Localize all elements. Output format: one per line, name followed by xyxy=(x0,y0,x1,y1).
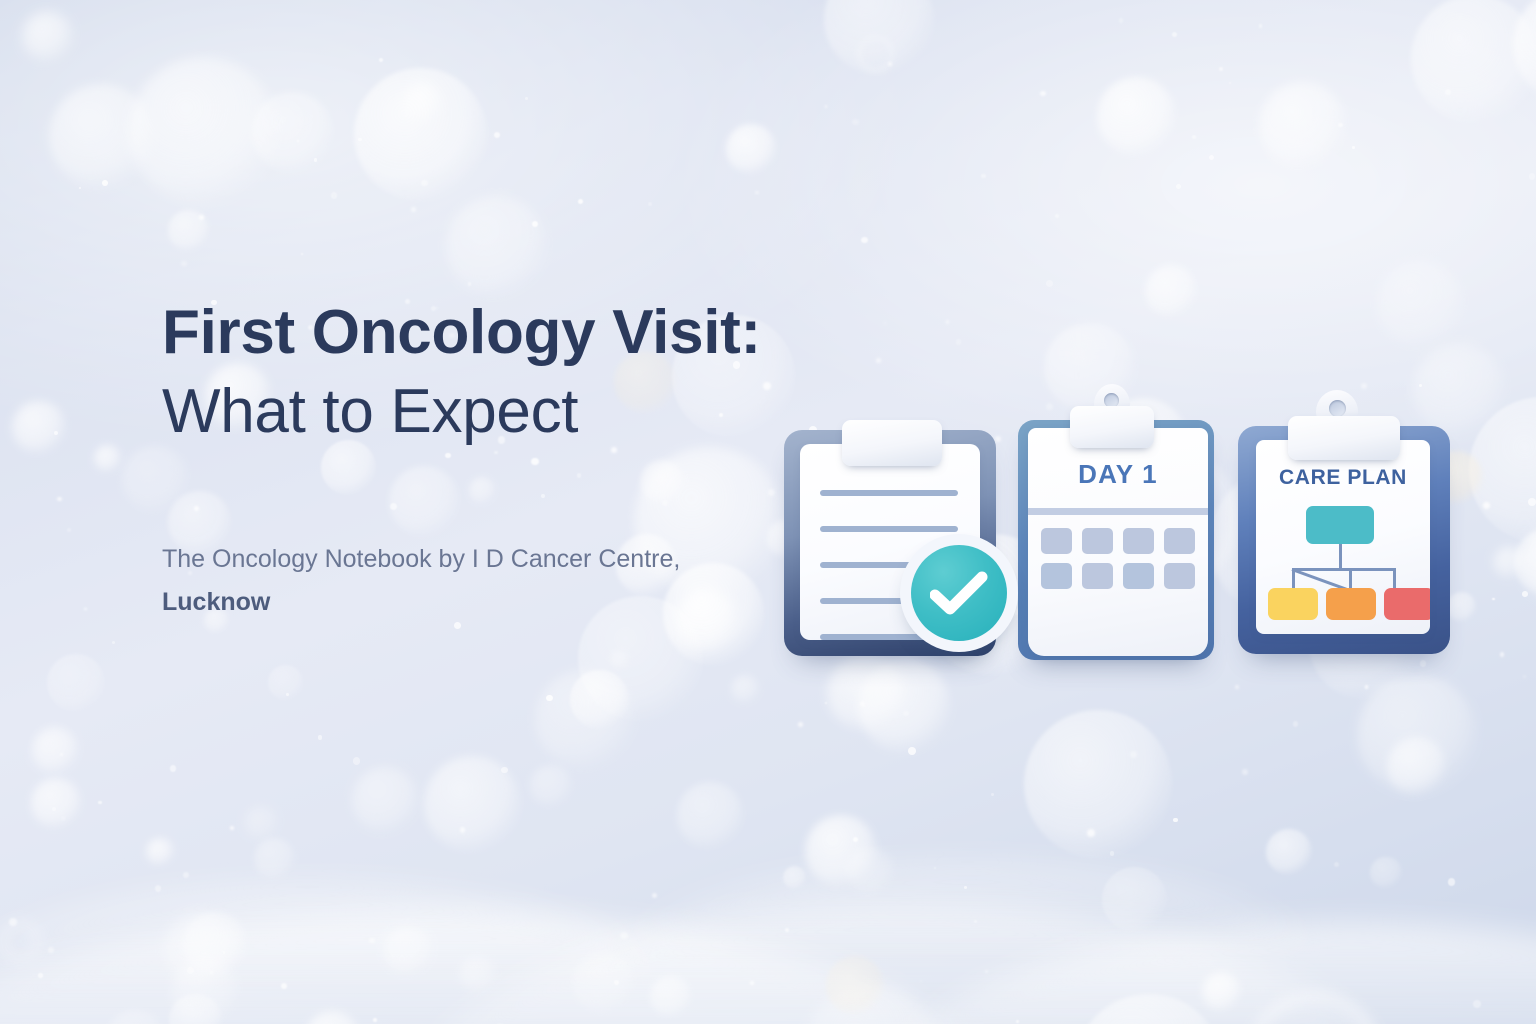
check-circle-fill xyxy=(911,545,1007,641)
subtitle-emphasis: Lucknow xyxy=(162,588,270,616)
page-title: First Oncology Visit: What to Expect xyxy=(162,300,782,446)
flow-node-child-3 xyxy=(1384,588,1430,620)
subtitle: The Oncology Notebook by I D Cancer Cent… xyxy=(162,446,737,624)
subtitle-prefix: The Oncology Notebook by I D Cancer Cent… xyxy=(162,545,680,573)
care-plan-paper: CARE PLAN xyxy=(1256,440,1430,634)
title-line-2: What to Expect xyxy=(162,379,782,446)
clip-hole xyxy=(1329,400,1346,417)
flow-node-child-1 xyxy=(1268,588,1318,620)
clipboards-illustration: DAY 1 CARE PLAN xyxy=(778,392,1468,672)
calendar-paper: DAY 1 xyxy=(1028,428,1208,656)
calendar-divider xyxy=(1028,508,1208,515)
care-plan-flowchart xyxy=(1256,506,1430,624)
clipboard-clip xyxy=(1070,406,1154,448)
title-line-1: First Oncology Visit: xyxy=(162,300,782,367)
check-circle-icon xyxy=(900,534,1018,652)
flow-node-child-2 xyxy=(1326,588,1376,620)
title-slide: First Oncology Visit: What to Expect The… xyxy=(0,0,1536,1024)
clipboard-clip xyxy=(842,420,942,466)
clipboard-clip xyxy=(1288,416,1400,460)
calendar-grid xyxy=(1041,528,1195,589)
clipboard-calendar-icon: DAY 1 xyxy=(1018,420,1214,660)
care-plan-heading: CARE PLAN xyxy=(1256,466,1430,490)
title-block: First Oncology Visit: What to Expect The… xyxy=(162,300,782,624)
flow-node-root xyxy=(1306,506,1374,544)
clipboard-care-plan-icon: CARE PLAN xyxy=(1238,426,1450,654)
